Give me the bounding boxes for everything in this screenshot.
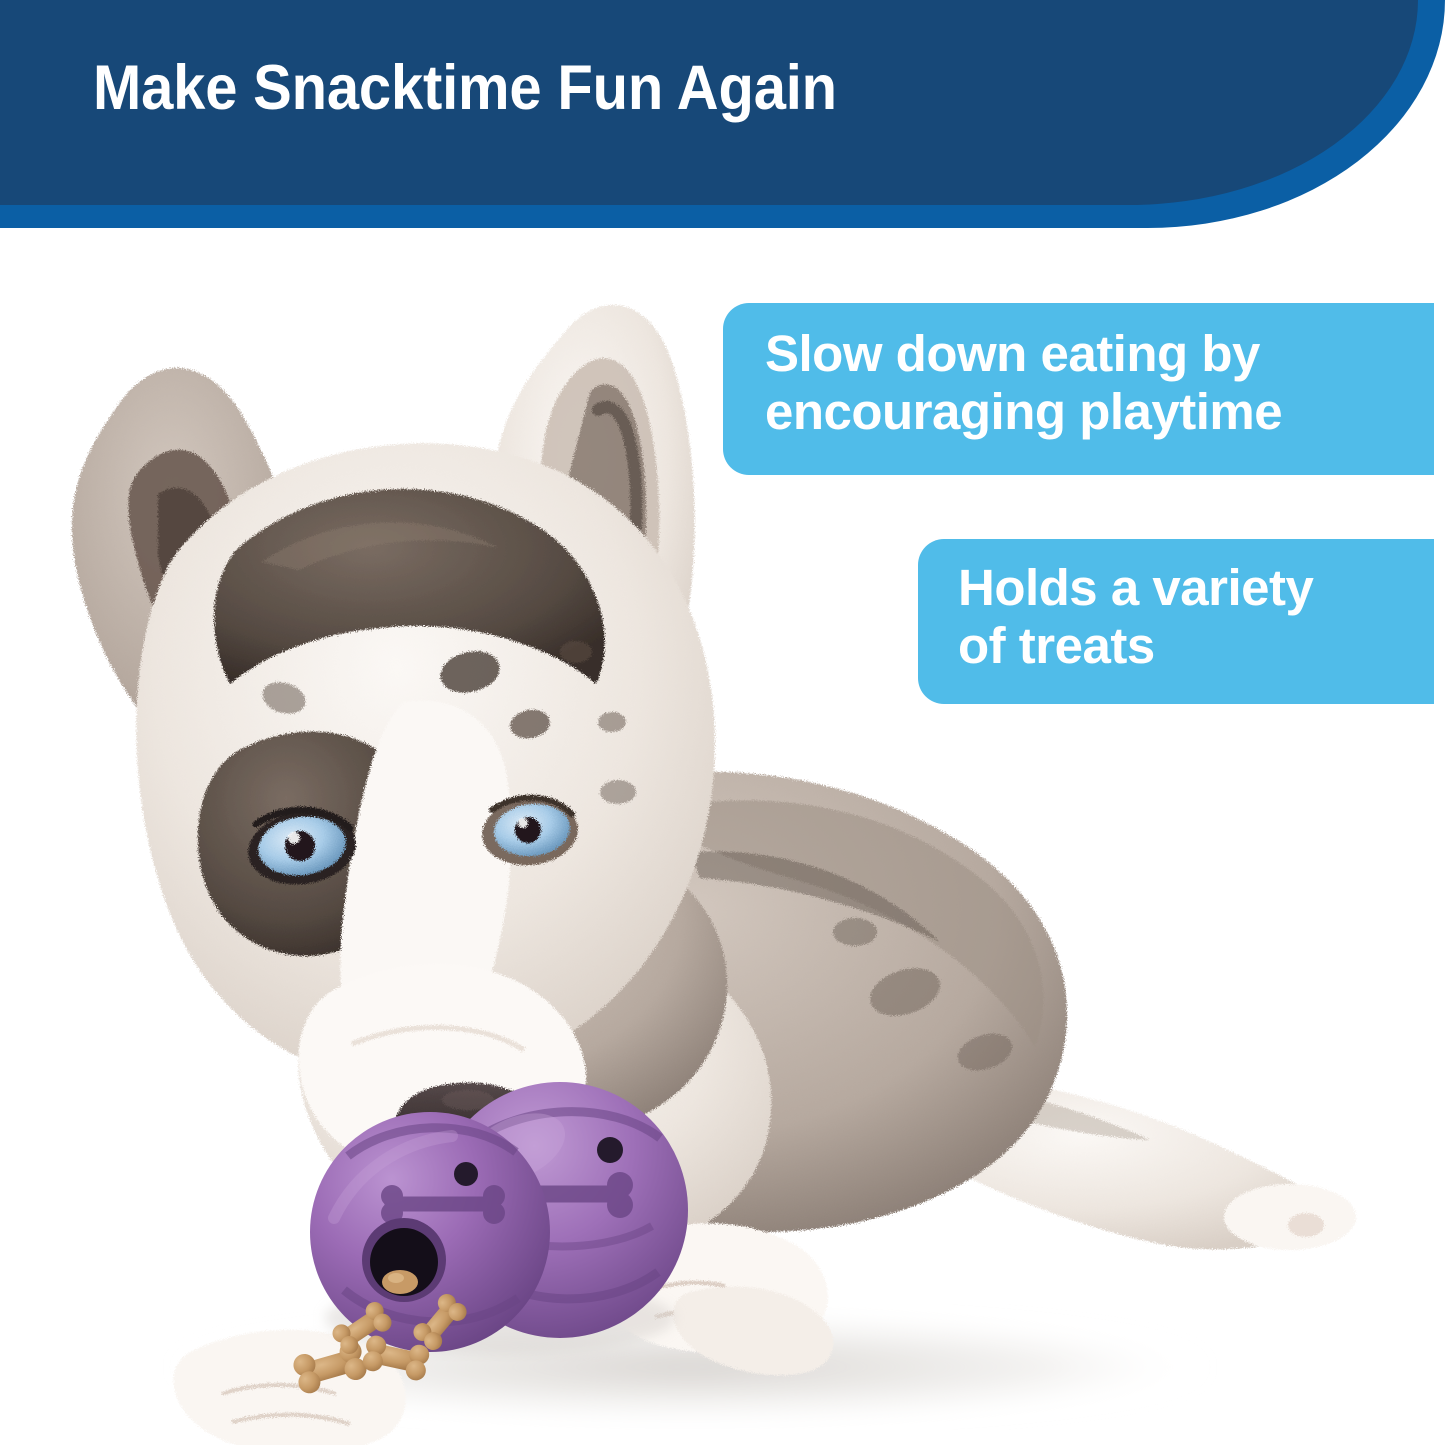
feature-callout-holds-treats: Holds a variety of treats <box>918 539 1434 704</box>
feature-callout-text: Slow down eating by encouraging playtime <box>765 325 1422 440</box>
toy-lobe-left <box>310 1112 550 1352</box>
header-banner: Make Snacktime Fun Again <box>0 0 1445 232</box>
feature-callout-slow-down-eating: Slow down eating by encouraging playtime <box>723 303 1434 475</box>
feature-callout-text: Holds a variety of treats <box>958 559 1422 674</box>
marketing-image-root: Make Snacktime Fun Again <box>0 0 1445 1445</box>
toy-hole-right <box>597 1137 623 1163</box>
toy-hole-left <box>454 1162 478 1186</box>
page-title: Make Snacktime Fun Again <box>93 57 837 120</box>
toy-treat-opening <box>362 1218 446 1302</box>
